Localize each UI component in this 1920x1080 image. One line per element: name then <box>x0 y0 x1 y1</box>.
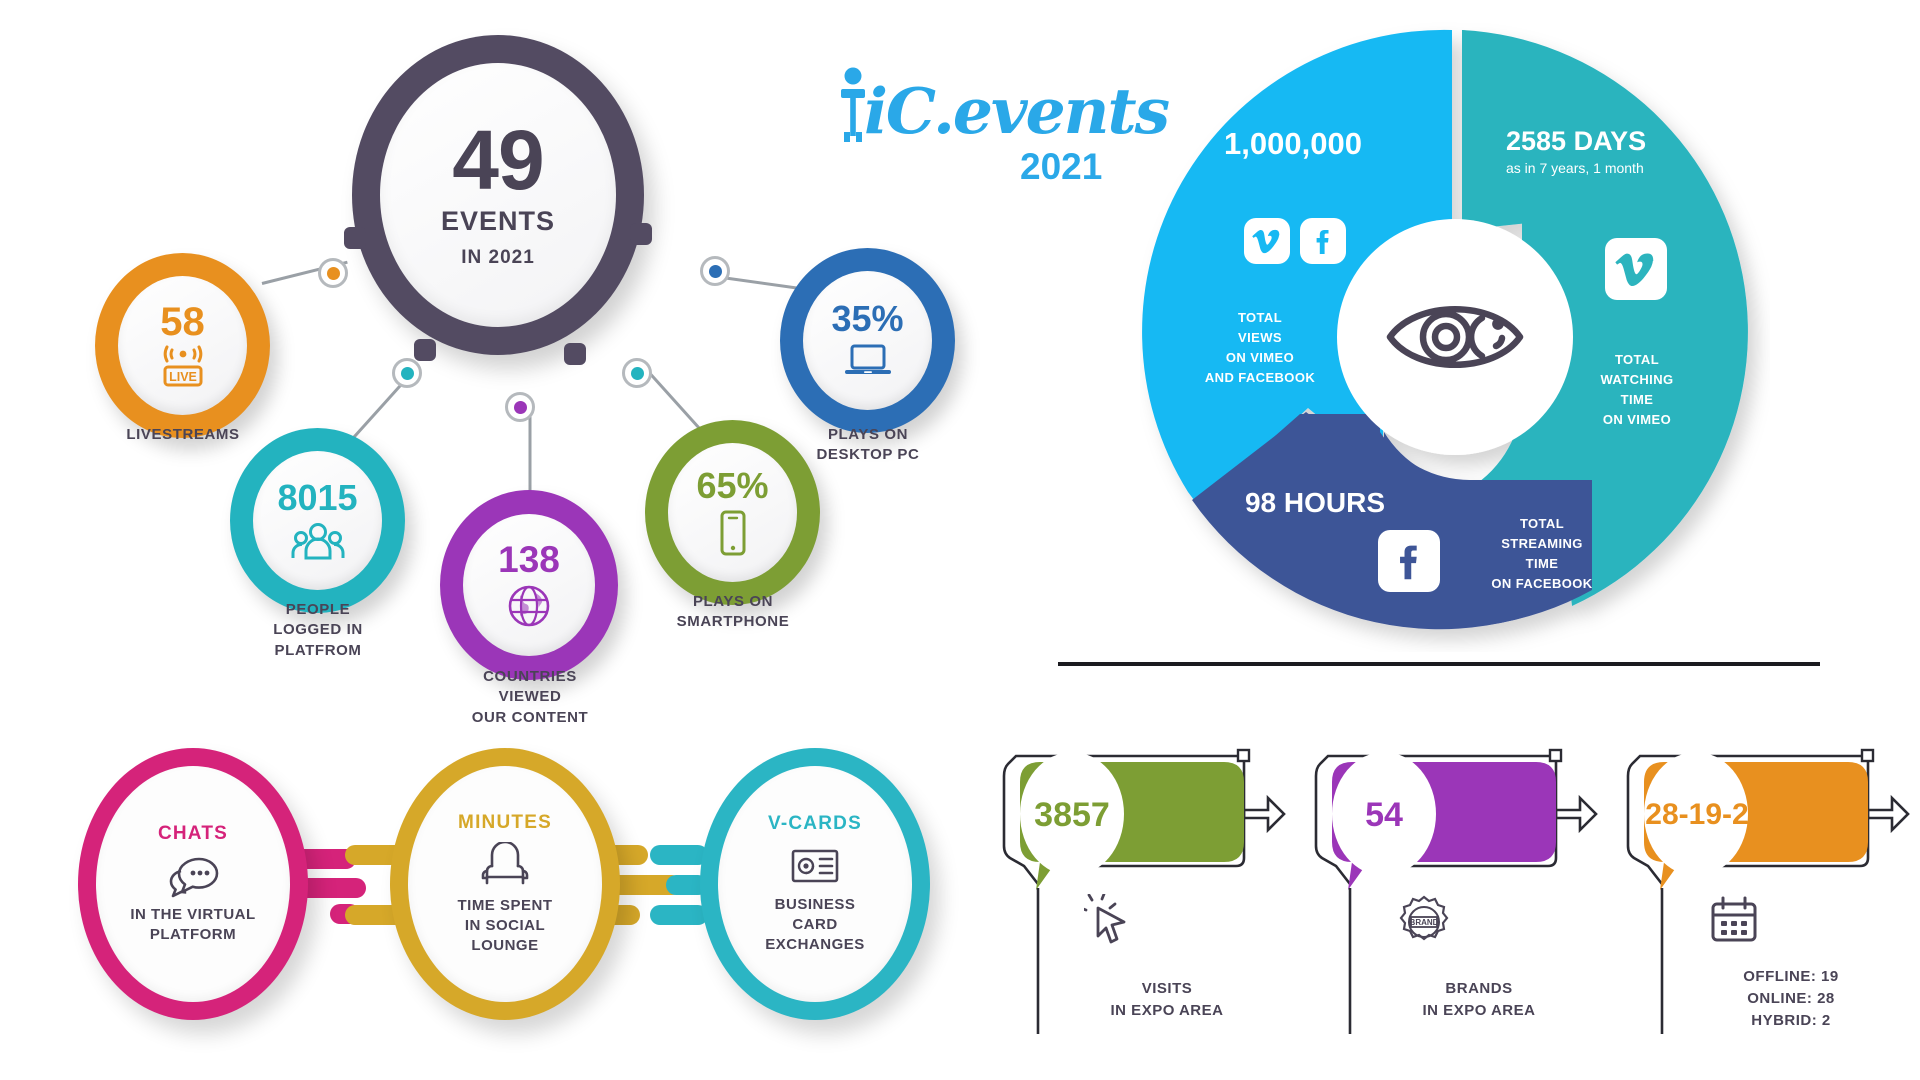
satellite-caption-smartphone: PLAYS ON SMARTPHONE <box>603 592 863 633</box>
satellite-caption-countries: COUNTRIES VIEWED OUR CONTENT <box>400 667 660 728</box>
infographic-canvas: 49 EVENTS IN 2021 58 <box>0 0 1920 1080</box>
expo-card-visits: 3857 VISITS IN EXPO AREA <box>1000 718 1290 1058</box>
calendar-icon <box>1708 894 1760 946</box>
satellite-caption-desktop: PLAYS ON DESKTOP PC <box>738 425 998 466</box>
expo-card-caption-brands: BRANDS IN EXPO AREA <box>1364 978 1594 1022</box>
section-divider <box>1058 662 1820 666</box>
expo-card-brands: 54 BRAND BRANDS IN EXPO AREA <box>1312 718 1602 1058</box>
satellite-value-smartphone: 65% <box>696 468 768 504</box>
satellite-livestreams: 58 LIVE <box>95 253 270 438</box>
svg-text:LIVE: LIVE <box>169 370 197 384</box>
connector-dot-countries <box>505 392 535 422</box>
satellite-value-livestreams: 58 <box>160 302 205 342</box>
donut-chart: 1,000,000 TOTAL VIEWS ON VIMEO AND FACEB… <box>1140 22 1770 652</box>
satellite-value-people: 8015 <box>277 480 357 516</box>
connector-dot-desktop <box>700 256 730 286</box>
capsule-text-minutes: TIME SPENT IN SOCIAL LOUNGE <box>457 896 552 957</box>
vimeo-glyph <box>1252 226 1282 256</box>
donut-note-watching-time: as in 7 years, 1 month <box>1506 160 1726 176</box>
capsule-title-chats: CHATS <box>158 823 228 845</box>
donut-caption-total-views: TOTAL VIEWS ON VIMEO AND FACEBOOK <box>1170 308 1350 389</box>
brand-name: iC.events <box>864 74 1168 148</box>
vimeo-icon-views <box>1244 218 1290 264</box>
hub-events-ring: 49 EVENTS IN 2021 <box>352 35 644 355</box>
facebook-icon-streaming <box>1378 530 1440 592</box>
expo-card-value-brands: 54 <box>1332 796 1436 835</box>
brand-logo: iC.events 2021 <box>830 60 1130 190</box>
people-group-icon <box>291 520 345 562</box>
connector-vcards-left-1 <box>650 845 708 865</box>
expo-card-caption-visits: VISITS IN EXPO AREA <box>1052 978 1282 1022</box>
capsule-vcards: V-CARDS BUSINESS CARD EXCHANGES <box>700 748 930 1020</box>
capsule-title-minutes: MINUTES <box>458 812 552 834</box>
donut-caption-watching-time: TOTAL WATCHING TIME ON VIMEO <box>1554 350 1720 431</box>
donut-value-watching-time: 2585 DAYS <box>1506 126 1706 157</box>
satellite-caption-people: PEOPLE LOGGED IN PLATFROM <box>188 600 448 661</box>
donut-value-total-views: 1,000,000 <box>1188 126 1398 162</box>
facebook-icon-views <box>1300 218 1346 264</box>
globe-icon <box>505 582 553 630</box>
connector-dot-livestreams <box>318 258 348 288</box>
satellite-value-countries: 138 <box>498 541 560 578</box>
donut-value-streaming-time: 98 HOURS <box>1200 487 1430 519</box>
cursor-click-icon <box>1084 894 1138 948</box>
satellite-desktop: 35% <box>780 248 955 433</box>
expo-card-formats: 28-19-2 OFFLINE: 19 ONLINE: 28 HYBRID: 2 <box>1624 718 1920 1058</box>
brand-badge-icon: BRAND <box>1396 894 1452 950</box>
capsule-chats: CHATS IN THE VIRTUAL PLATFORM <box>78 748 308 1020</box>
armchair-icon <box>479 842 531 890</box>
hub-label: EVENTS <box>441 206 555 237</box>
hub-sublabel: IN 2021 <box>461 247 535 269</box>
connector-dot-people <box>392 358 422 388</box>
vimeo-icon-watching <box>1605 238 1667 300</box>
hub-number: 49 <box>452 121 543 201</box>
capsule-minutes: MINUTES TIME SPENT IN SOCIAL LOUNGE <box>390 748 620 1020</box>
business-card-icon <box>788 843 842 889</box>
satellite-countries: 138 <box>440 490 618 680</box>
satellite-people: 8015 <box>230 428 405 613</box>
svg-text:BRAND: BRAND <box>1410 918 1439 927</box>
donut-caption-streaming-time: TOTAL STREAMING TIME ON FACEBOOK <box>1452 514 1632 595</box>
vimeo-glyph-2 <box>1615 248 1657 290</box>
expo-card-caption-formats: OFFLINE: 19 ONLINE: 28 HYBRID: 2 <box>1676 966 1906 1031</box>
hub-nub-right <box>630 223 652 245</box>
connector-vcards-left-3 <box>650 905 708 925</box>
laptop-icon <box>842 341 894 381</box>
hub-nub-bottom-right <box>564 343 586 365</box>
expo-card-value-visits: 3857 <box>1020 796 1124 835</box>
hub-nub-left <box>344 227 366 249</box>
connector-dot-smartphone <box>622 358 652 388</box>
chat-bubbles-icon <box>166 853 220 899</box>
connector-line-people <box>349 381 405 442</box>
brand-year: 2021 <box>1020 146 1102 188</box>
capsule-text-chats: IN THE VIRTUAL PLATFORM <box>130 905 255 946</box>
facebook-glyph <box>1308 226 1338 256</box>
expo-card-value-formats: 28-19-2 <box>1630 798 1764 832</box>
capsule-text-vcards: BUSINESS CARD EXCHANGES <box>765 895 865 956</box>
facebook-glyph-2 <box>1388 540 1430 582</box>
smartphone-icon <box>716 508 750 558</box>
capsule-title-vcards: V-CARDS <box>768 813 862 835</box>
satellite-value-desktop: 35% <box>831 301 903 337</box>
hub-nub-bottom-left <box>414 339 436 361</box>
live-broadcast-icon: LIVE <box>158 344 208 390</box>
